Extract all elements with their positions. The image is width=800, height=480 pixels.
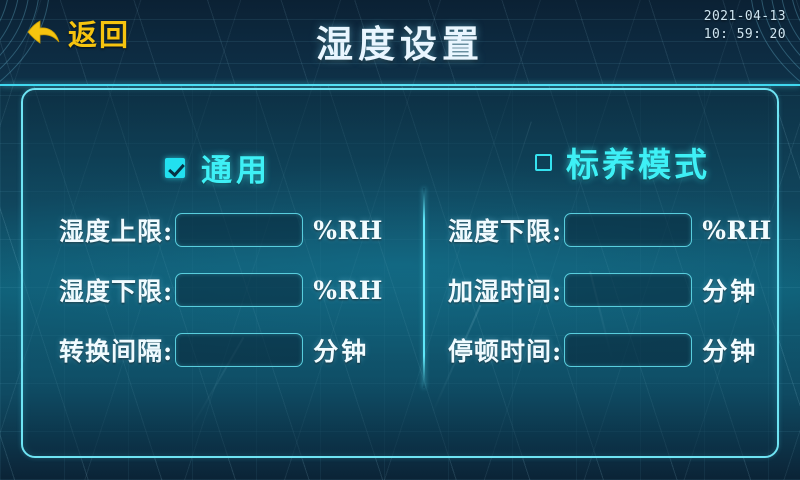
- settings-panel: 通用 标养模式 湿度上限: %RH 湿度下限: %RH 转换间隔: 分钟 湿度下…: [21, 88, 779, 458]
- input-humidity-lower-limit-left[interactable]: [175, 273, 303, 307]
- field-unit: %RH: [313, 276, 383, 305]
- clock-time: 10: 59: 20: [704, 26, 786, 44]
- input-humidify-time[interactable]: [564, 273, 692, 307]
- field-humidity-lower-limit-left: 湿度下限: %RH: [59, 272, 383, 308]
- mode-toggle-general[interactable]: 通用: [165, 145, 271, 190]
- field-switch-interval: 转换间隔: 分钟: [59, 332, 369, 368]
- field-unit: %RH: [702, 216, 772, 245]
- field-unit: 分钟: [313, 332, 369, 368]
- header-divider-line: [0, 84, 800, 86]
- input-switch-interval[interactable]: [175, 333, 303, 367]
- input-pause-time[interactable]: [564, 333, 692, 367]
- field-label: 湿度下限:: [448, 212, 562, 248]
- field-label: 湿度上限:: [59, 212, 173, 248]
- header-bar: 返回 湿度设置 2021-04-13 10: 59: 20: [0, 0, 800, 86]
- field-unit: %RH: [313, 216, 383, 245]
- field-label: 停顿时间:: [448, 332, 562, 368]
- input-humidity-upper-limit[interactable]: [175, 213, 303, 247]
- clock-date: 2021-04-13: [704, 8, 786, 26]
- field-label: 转换间隔:: [59, 332, 173, 368]
- checkbox-standard[interactable]: [535, 154, 552, 171]
- field-label: 湿度下限:: [59, 272, 173, 308]
- page-title: 湿度设置: [0, 14, 800, 68]
- field-unit: 分钟: [702, 272, 758, 308]
- mode-label-general: 通用: [201, 145, 271, 190]
- mode-toggle-standard[interactable]: 标养模式: [535, 138, 710, 186]
- field-humidify-time: 加湿时间: 分钟: [448, 272, 758, 308]
- field-humidity-upper-limit: 湿度上限: %RH: [59, 212, 383, 248]
- field-pause-time: 停顿时间: 分钟: [448, 332, 758, 368]
- field-humidity-lower-limit-right: 湿度下限: %RH: [448, 212, 772, 248]
- field-unit: 分钟: [702, 332, 758, 368]
- app-screen: 返回 湿度设置 2021-04-13 10: 59: 20 通用 标养模式 湿度…: [0, 0, 800, 480]
- mode-label-standard: 标养模式: [566, 138, 710, 186]
- input-humidity-lower-limit-right[interactable]: [564, 213, 692, 247]
- field-label: 加湿时间:: [448, 272, 562, 308]
- column-divider: [423, 188, 425, 388]
- checkbox-general[interactable]: [165, 158, 185, 178]
- clock: 2021-04-13 10: 59: 20: [704, 8, 786, 43]
